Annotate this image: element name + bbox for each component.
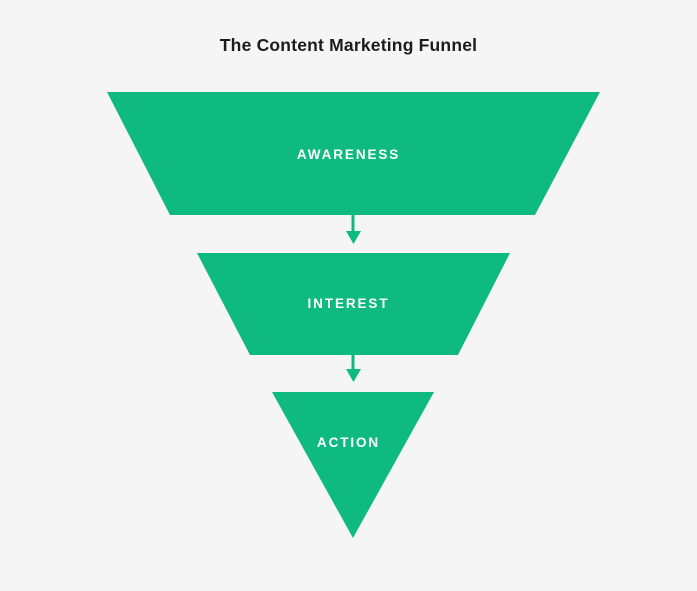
connector-arrow-interest-to-action [346, 355, 361, 382]
funnel-diagram: The Content Marketing Funnel AWARENESS I… [0, 0, 697, 591]
funnel-stage-action[interactable] [272, 392, 434, 538]
funnel-stage-awareness[interactable] [107, 92, 600, 215]
funnel-graphic [0, 0, 697, 591]
connector-arrow-awareness-to-interest [346, 215, 361, 244]
funnel-stage-interest[interactable] [197, 253, 510, 355]
